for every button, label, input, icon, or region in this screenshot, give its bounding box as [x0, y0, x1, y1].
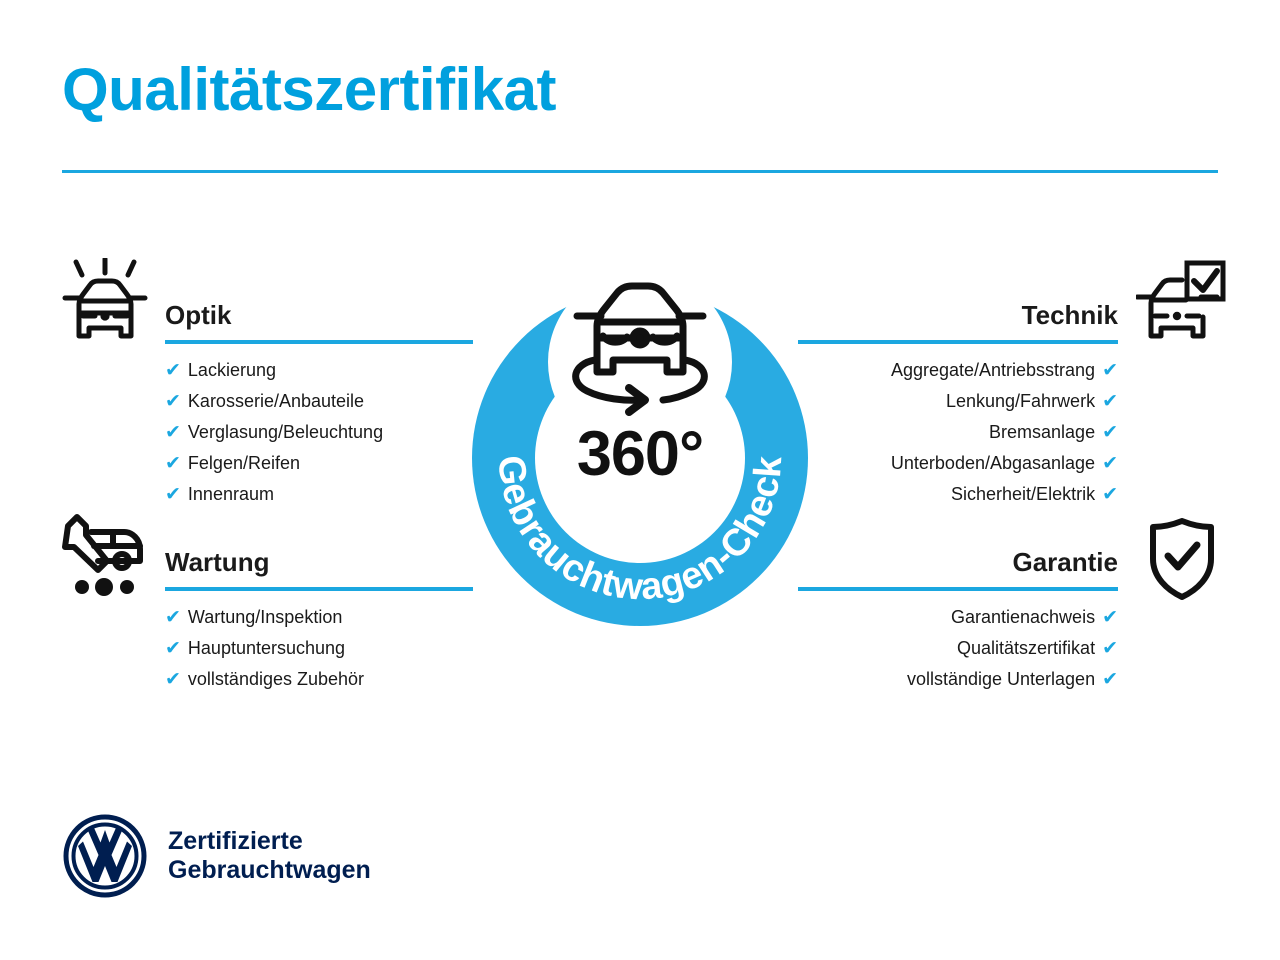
page-title: Qualitätszertifikat [62, 57, 556, 123]
section-garantie-divider [798, 587, 1118, 591]
section-wartung-title: Wartung [165, 545, 473, 579]
list-item: ✔ vollständiges Zubehör [165, 664, 473, 695]
wordmark-line-1: Zertifizierte [168, 827, 371, 856]
list-item: ✔ Verglasung/Beleuchtung [165, 417, 473, 448]
list-item: ✔ Innenraum [165, 479, 473, 510]
check-icon: ✔ [1102, 603, 1118, 633]
list-item: Bremsanlage ✔ [798, 417, 1118, 448]
section-optik: Optik ✔ Lackierung ✔ Karosserie/Anbautei… [165, 298, 473, 510]
list-item: Sicherheit/Elektrik ✔ [798, 479, 1118, 510]
section-optik-header: Optik [165, 298, 473, 344]
check-icon: ✔ [165, 449, 181, 479]
section-technik-title: Technik [798, 298, 1118, 332]
gebrauchtwagen-check-badge: Gebrauchtwagen-Check [455, 252, 825, 632]
section-optik-title: Optik [165, 298, 473, 332]
check-icon: ✔ [165, 634, 181, 664]
wrench-car-service-icon [60, 508, 152, 600]
check-icon: ✔ [165, 356, 181, 386]
list-item-label: Karosserie/Anbauteile [188, 386, 364, 416]
list-item-label: Unterboden/Abgasanlage [891, 448, 1095, 478]
volkswagen-lockup: Zertifizierte Gebrauchtwagen [62, 808, 371, 904]
list-item-label: Hauptuntersuchung [188, 633, 345, 663]
list-item: vollständige Unterlagen ✔ [798, 664, 1118, 695]
list-item-label: Sicherheit/Elektrik [951, 479, 1095, 509]
check-icon: ✔ [1102, 449, 1118, 479]
list-item: Qualitätszertifikat ✔ [798, 633, 1118, 664]
section-garantie-header: Garantie [798, 545, 1118, 591]
list-item: Aggregate/Antriebsstrang ✔ [798, 355, 1118, 386]
shield-check-icon [1148, 518, 1216, 600]
check-icon: ✔ [165, 603, 181, 633]
list-item: Lenkung/Fahrwerk ✔ [798, 386, 1118, 417]
list-item-label: Aggregate/Antriebsstrang [891, 355, 1095, 385]
section-technik-list: Aggregate/Antriebsstrang ✔ Lenkung/Fahrw… [798, 344, 1118, 510]
check-icon: ✔ [1102, 665, 1118, 695]
list-item: ✔ Wartung/Inspektion [165, 602, 473, 633]
list-item-label: Qualitätszertifikat [957, 633, 1095, 663]
list-item: ✔ Lackierung [165, 355, 473, 386]
section-wartung-divider [165, 587, 473, 591]
check-icon: ✔ [1102, 634, 1118, 664]
list-item-label: Lackierung [188, 355, 276, 385]
list-item-label: vollständiges Zubehör [188, 664, 364, 694]
list-item-label: vollständige Unterlagen [907, 664, 1095, 694]
list-item-label: Innenraum [188, 479, 274, 509]
list-item-label: Bremsanlage [989, 417, 1095, 447]
list-item-label: Garantienachweis [951, 602, 1095, 632]
wordmark-line-2: Gebrauchtwagen [168, 856, 371, 885]
section-garantie-list: Garantienachweis ✔ Qualitätszertifikat ✔… [798, 591, 1118, 695]
check-icon: ✔ [1102, 418, 1118, 448]
section-wartung-list: ✔ Wartung/Inspektion ✔ Hauptuntersuchung… [165, 591, 473, 695]
certificate-page: Qualitätszertifikat Optik [0, 0, 1280, 960]
section-technik-header: Technik [798, 298, 1118, 344]
section-optik-divider [165, 340, 473, 344]
list-item-label: Felgen/Reifen [188, 448, 300, 478]
section-garantie-title: Garantie [798, 545, 1118, 579]
list-item: ✔ Hauptuntersuchung [165, 633, 473, 664]
check-icon: ✔ [1102, 356, 1118, 386]
check-icon: ✔ [1102, 387, 1118, 417]
list-item-label: Wartung/Inspektion [188, 602, 342, 632]
list-item-label: Lenkung/Fahrwerk [946, 386, 1095, 416]
check-icon: ✔ [165, 665, 181, 695]
list-item: Unterboden/Abgasanlage ✔ [798, 448, 1118, 479]
section-technik: Technik Aggregate/Antriebsstrang ✔ Lenku… [798, 298, 1118, 510]
section-technik-divider [798, 340, 1118, 344]
car-front-checkbox-icon [1136, 260, 1226, 348]
check-icon: ✔ [165, 387, 181, 417]
volkswagen-logo [62, 813, 148, 899]
section-garantie: Garantie Garantienachweis ✔ Qualitätszer… [798, 545, 1118, 695]
list-item: ✔ Felgen/Reifen [165, 448, 473, 479]
check-icon: ✔ [165, 418, 181, 448]
section-wartung: Wartung ✔ Wartung/Inspektion ✔ Hauptunte… [165, 545, 473, 695]
volkswagen-wordmark: Zertifizierte Gebrauchtwagen [168, 827, 371, 885]
list-item: ✔ Karosserie/Anbauteile [165, 386, 473, 417]
check-icon: ✔ [165, 480, 181, 510]
section-wartung-header: Wartung [165, 545, 473, 591]
title-divider [62, 170, 1218, 173]
list-item-label: Verglasung/Beleuchtung [188, 417, 383, 447]
car-front-shine-icon [62, 258, 148, 350]
list-item: Garantienachweis ✔ [798, 602, 1118, 633]
check-icon: ✔ [1102, 480, 1118, 510]
section-optik-list: ✔ Lackierung ✔ Karosserie/Anbauteile ✔ V… [165, 344, 473, 510]
